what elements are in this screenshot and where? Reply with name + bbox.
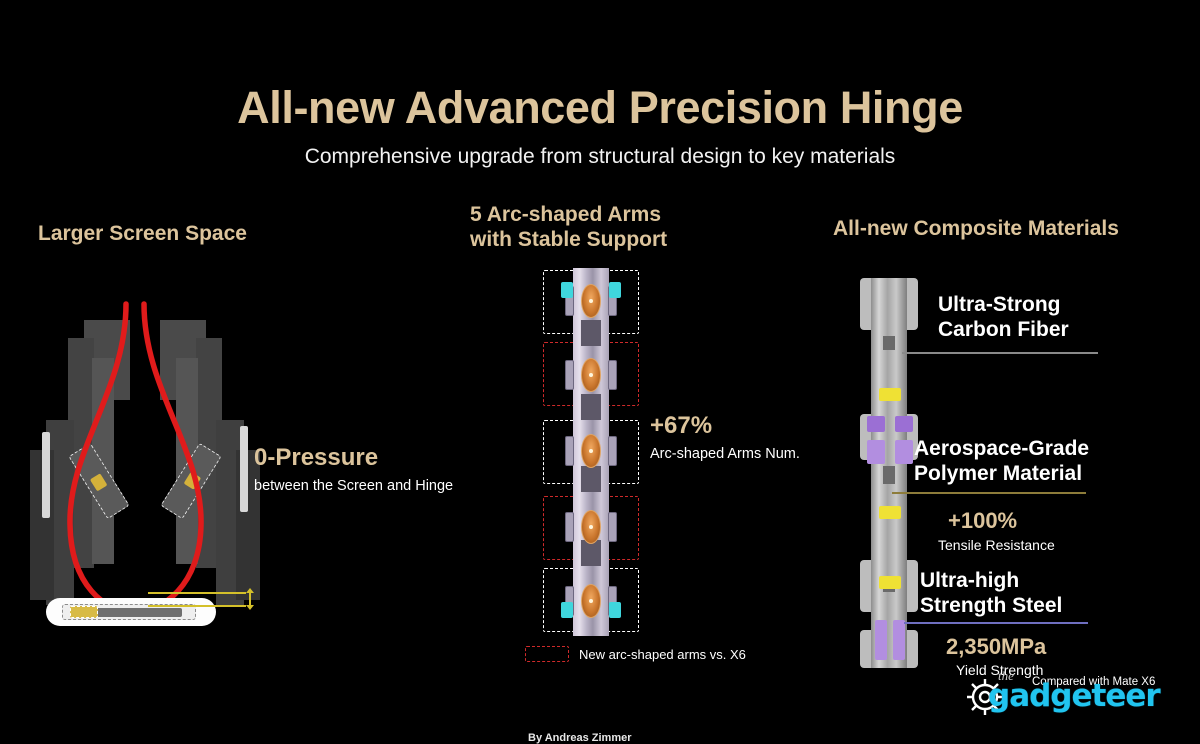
gap-arrow-icon bbox=[244, 588, 256, 610]
body-notch bbox=[883, 466, 895, 484]
material-line-2: Carbon Fiber bbox=[938, 317, 1069, 342]
cam-pin bbox=[589, 525, 593, 529]
heading-line-2: with Stable Support bbox=[470, 228, 667, 253]
polymer-insert bbox=[895, 440, 913, 464]
capsule-chip bbox=[70, 606, 98, 618]
arm-bracket bbox=[565, 360, 574, 390]
material-rule bbox=[892, 492, 1086, 494]
folded-screen-hinge-diagram bbox=[30, 300, 260, 640]
byline: By Andreas Zimmer bbox=[528, 732, 632, 744]
material-line-1: Ultra-high bbox=[920, 568, 1062, 593]
heading-line-1: 5 Arc-shaped Arms bbox=[470, 203, 667, 228]
spine-dark-band bbox=[581, 466, 601, 492]
polymer-insert bbox=[875, 620, 887, 660]
arms-metric-value: +67% bbox=[650, 412, 800, 440]
arm-bracket bbox=[565, 512, 574, 542]
tensile-metric-value: +100% bbox=[948, 508, 1017, 534]
section-heading-right: All-new Composite Materials bbox=[833, 217, 1119, 242]
cam-pin bbox=[589, 449, 593, 453]
material-line-1: Aerospace-Grade bbox=[914, 436, 1089, 461]
steel-highlight bbox=[879, 388, 901, 401]
arc-shaped-arms-diagram bbox=[543, 268, 639, 636]
polymer-insert bbox=[867, 440, 885, 464]
hinge-end-tip bbox=[609, 282, 621, 298]
hinge-end-tip bbox=[561, 602, 573, 618]
spine-dark-band bbox=[581, 394, 601, 420]
folded-display-path-icon bbox=[30, 300, 260, 640]
section-heading-middle: 5 Arc-shaped Arms with Stable Support bbox=[470, 203, 667, 253]
legend-label: New arc-shaped arms vs. X6 bbox=[579, 647, 746, 662]
material-rule bbox=[902, 352, 1098, 354]
zero-pressure-callout: 0-Pressure between the Screen and Hinge bbox=[254, 444, 453, 494]
hinge-end-tip bbox=[609, 602, 621, 618]
cam-pin bbox=[589, 599, 593, 603]
polymer-insert bbox=[895, 416, 913, 432]
cam-pin bbox=[589, 299, 593, 303]
material-label-polymer: Aerospace-Grade Polymer Material bbox=[914, 436, 1089, 486]
arms-metric-callout: +67% Arc-shaped Arms Num. bbox=[650, 412, 800, 462]
spine-dark-band bbox=[581, 320, 601, 346]
yield-metric-value: 2,350MPa bbox=[946, 634, 1046, 660]
steel-highlight bbox=[879, 576, 901, 589]
arm-bracket bbox=[565, 436, 574, 466]
capsule-bar bbox=[96, 608, 182, 617]
arms-metric-label: Arc-shaped Arms Num. bbox=[650, 446, 800, 462]
polymer-insert bbox=[893, 620, 905, 660]
cam-pin bbox=[589, 373, 593, 377]
arm-bracket bbox=[608, 360, 617, 390]
material-label-carbon-fiber: Ultra-Strong Carbon Fiber bbox=[938, 292, 1069, 342]
polymer-insert bbox=[867, 416, 885, 432]
legend-swatch-icon bbox=[525, 646, 569, 662]
screen-edge-capsule bbox=[46, 598, 216, 626]
page-title: All-new Advanced Precision Hinge bbox=[0, 82, 1200, 134]
arm-bracket bbox=[608, 512, 617, 542]
measure-leader-line bbox=[148, 605, 246, 607]
material-line-2: Polymer Material bbox=[914, 461, 1089, 486]
zero-pressure-label: between the Screen and Hinge bbox=[254, 478, 453, 494]
zero-pressure-value: 0-Pressure bbox=[254, 444, 453, 472]
material-line-1: Ultra-Strong bbox=[938, 292, 1069, 317]
steel-highlight bbox=[879, 506, 901, 519]
material-rule bbox=[904, 622, 1088, 624]
section-heading-left: Larger Screen Space bbox=[38, 222, 247, 247]
arm-bracket bbox=[608, 436, 617, 466]
measure-leader-line bbox=[148, 592, 246, 594]
tensile-metric-label: Tensile Resistance bbox=[938, 537, 1055, 553]
gadgeteer-watermark: the gadgeteer bbox=[962, 668, 1142, 720]
material-line-2: Strength Steel bbox=[920, 593, 1062, 618]
page-subtitle: Comprehensive upgrade from structural de… bbox=[0, 145, 1200, 169]
presentation-slide: All-new Advanced Precision Hinge Compreh… bbox=[0, 0, 1200, 744]
watermark-wordmark: gadgeteer bbox=[988, 678, 1160, 714]
material-label-steel: Ultra-high Strength Steel bbox=[920, 568, 1062, 618]
body-notch bbox=[883, 336, 895, 350]
hinge-end-tip bbox=[561, 282, 573, 298]
legend: New arc-shaped arms vs. X6 bbox=[525, 646, 746, 662]
